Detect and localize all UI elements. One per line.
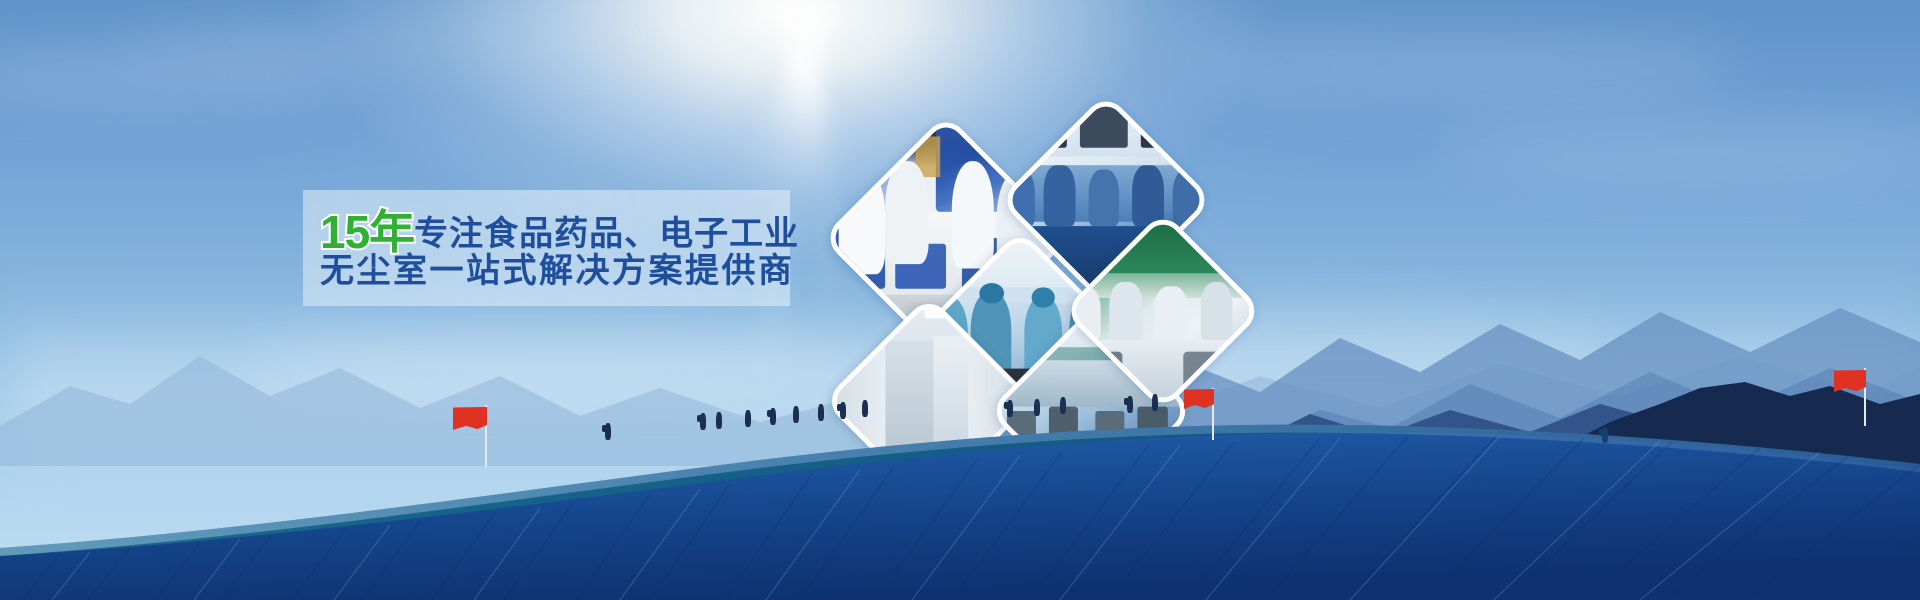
headline-line-2: 无尘室一站式解决方案提供商 — [320, 254, 795, 288]
climber-15 — [1602, 427, 1608, 443]
climber-6 — [793, 406, 799, 423]
climber-5-pack — [767, 410, 772, 417]
cloud — [1440, 120, 1920, 184]
headline-block: 15年专注食品药品、电子工业 无尘室一站式解决方案提供商 — [312, 196, 792, 300]
flag-pole — [485, 405, 487, 467]
cloud — [120, 20, 640, 64]
climber-2-pack — [697, 415, 702, 422]
cloud — [0, 46, 360, 102]
climber-1-pack — [602, 425, 607, 432]
sun-ray — [786, 0, 846, 330]
climber-2 — [700, 413, 706, 430]
hero-banner: 15年专注食品药品、电子工业 无尘室一站式解决方案提供商 — [0, 0, 1920, 600]
headline-line-1-text: 专注食品药品、电子工业 — [414, 214, 799, 254]
climber-3 — [716, 412, 722, 429]
headline-line-1: 15年专注食品药品、电子工业 — [320, 206, 799, 252]
cloud — [250, 330, 890, 400]
diamond-photo-collage — [840, 88, 1280, 468]
climber-7 — [818, 404, 824, 421]
climber-4 — [745, 410, 751, 427]
flag-pole — [1864, 368, 1866, 426]
climber-1 — [605, 423, 611, 440]
climber-5 — [770, 408, 776, 425]
climber-15-pack — [1599, 429, 1604, 436]
flag-cloth — [1834, 370, 1866, 392]
headline-line-2-text: 无尘室一站式解决方案提供商 — [320, 251, 795, 291]
flag-cloth — [453, 407, 487, 430]
